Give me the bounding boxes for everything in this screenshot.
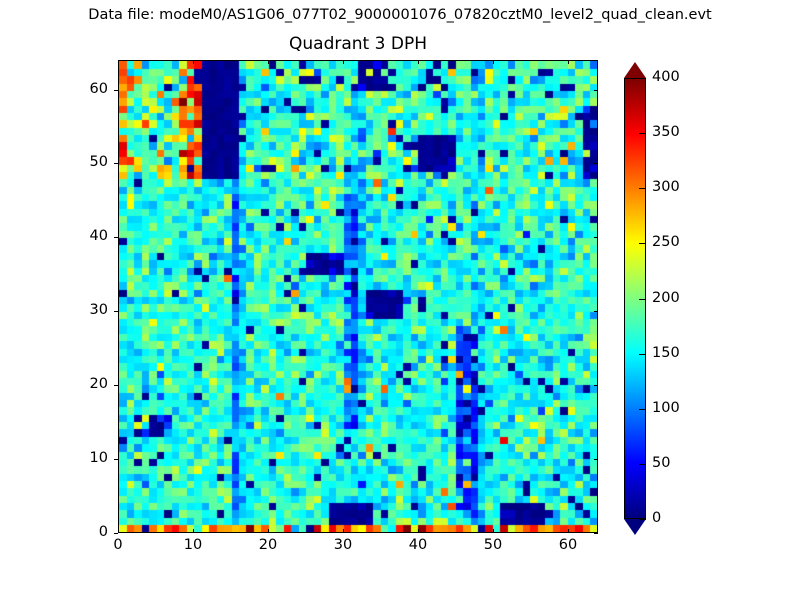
y-tick-mark: [114, 459, 118, 460]
x-tick-mark-top: [343, 60, 344, 64]
x-tick-label: 60: [538, 537, 598, 554]
x-tick-mark-top: [418, 60, 419, 64]
colorbar-tick-mark: [639, 409, 646, 410]
colorbar-tick-label: 150: [652, 345, 680, 362]
y-tick-label: 40: [48, 228, 108, 245]
colorbar-tick-mark: [639, 243, 646, 244]
x-tick-mark: [343, 529, 344, 533]
x-tick-label: 40: [388, 537, 448, 554]
colorbar-tick-label: 50: [652, 455, 670, 472]
colorbar-tick-mark: [639, 299, 646, 300]
colorbar-tick-label: 300: [652, 179, 680, 196]
y-tick-mark-right: [594, 385, 598, 386]
y-tick-mark: [114, 311, 118, 312]
x-tick-mark: [118, 529, 119, 533]
colorbar-tick-mark: [639, 519, 646, 520]
colorbar-tick-mark: [639, 354, 646, 355]
x-tick-mark: [193, 529, 194, 533]
y-tick-mark-right: [594, 237, 598, 238]
colorbar-tick-label: 200: [652, 290, 680, 307]
page-title: Quadrant 3 DPH: [118, 33, 598, 55]
x-tick-mark: [418, 529, 419, 533]
heatmap-image: [119, 61, 597, 532]
colorbar-tick-mark: [639, 464, 646, 465]
x-tick-label: 30: [313, 537, 373, 554]
y-tick-label: 50: [48, 154, 108, 171]
y-tick-mark: [114, 533, 118, 534]
x-tick-mark: [568, 529, 569, 533]
colorbar-tick-mark: [639, 188, 646, 189]
x-tick-mark-top: [118, 60, 119, 64]
y-tick-mark-right: [594, 459, 598, 460]
dph-heatmap-axes[interactable]: [118, 60, 598, 533]
x-tick-mark-top: [268, 60, 269, 64]
x-tick-mark-top: [493, 60, 494, 64]
colorbar-tick-label: 0: [652, 510, 661, 527]
colorbar-tick-label: 100: [652, 400, 680, 417]
y-tick-label: 10: [48, 450, 108, 467]
x-tick-label: 10: [163, 537, 223, 554]
x-tick-mark: [493, 529, 494, 533]
colorbar-tick-label: 250: [652, 234, 680, 251]
colorbar-under-arrow-icon: [624, 519, 646, 535]
x-tick-mark-top: [568, 60, 569, 64]
y-tick-mark-right: [594, 533, 598, 534]
y-tick-mark-right: [594, 311, 598, 312]
figure-canvas: Data file: modeM0/AS1G06_077T02_90000010…: [0, 0, 800, 600]
x-tick-label: 50: [463, 537, 523, 554]
y-tick-label: 0: [48, 524, 108, 541]
x-tick-mark: [268, 529, 269, 533]
colorbar-tick-mark: [639, 133, 646, 134]
y-tick-label: 60: [48, 81, 108, 98]
data-file-suptitle: Data file: modeM0/AS1G06_077T02_90000010…: [0, 6, 800, 24]
y-tick-mark: [114, 90, 118, 91]
colorbar-over-arrow-icon: [624, 62, 646, 78]
y-tick-mark-right: [594, 90, 598, 91]
x-tick-mark-top: [193, 60, 194, 64]
colorbar-tick-label: 350: [652, 124, 680, 141]
colorbar-tick-mark: [639, 78, 646, 79]
y-tick-mark: [114, 385, 118, 386]
y-tick-mark: [114, 237, 118, 238]
y-tick-label: 30: [48, 302, 108, 319]
colorbar-tick-label: 400: [652, 69, 680, 86]
y-tick-label: 20: [48, 376, 108, 393]
y-tick-mark-right: [594, 163, 598, 164]
x-tick-label: 20: [238, 537, 298, 554]
y-tick-mark: [114, 163, 118, 164]
